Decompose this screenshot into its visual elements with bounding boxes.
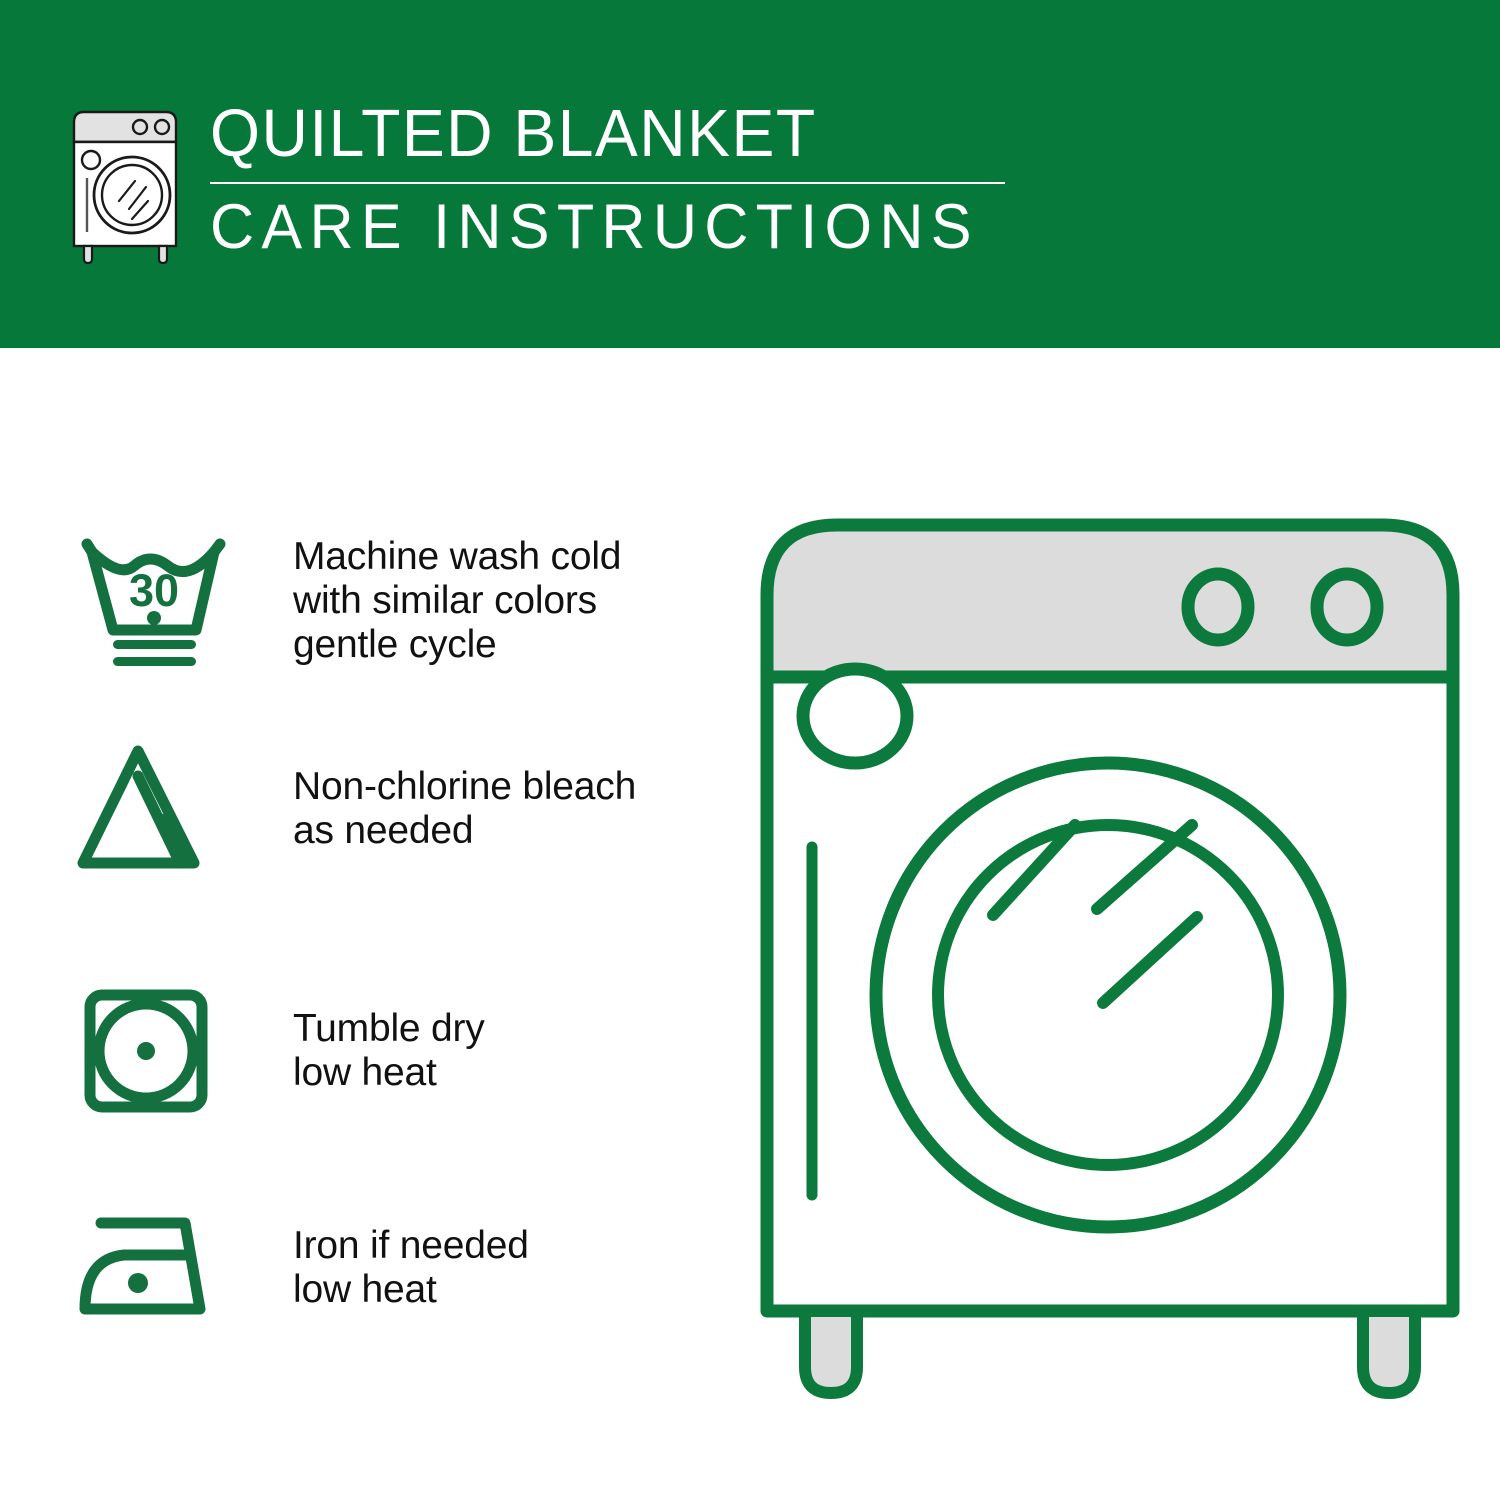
- header-title-group: QUILTED BLANKET CARE INSTRUCTIONS: [210, 98, 1005, 261]
- wash-tub-30-gentle-icon: 30: [72, 526, 237, 676]
- care-item-machine-wash: 30 Machine wash cold with similar colors…: [72, 526, 712, 676]
- care-item-iron: Iron if needed low heat: [72, 1193, 712, 1343]
- detergent-port: [803, 669, 907, 763]
- page-subtitle: CARE INSTRUCTIONS: [210, 193, 981, 261]
- knob-left: [1188, 574, 1248, 640]
- care-item-label: Iron if needed low heat: [293, 1224, 529, 1312]
- title-divider: [210, 182, 1005, 184]
- care-item-bleach: Non-chlorine bleach as needed: [72, 734, 712, 884]
- tumble-dry-low-heat-icon: [72, 976, 237, 1126]
- non-chlorine-bleach-triangle-icon: [72, 734, 237, 884]
- care-item-tumble-dry: Tumble dry low heat: [72, 976, 712, 1126]
- care-item-label: Non-chlorine bleach as needed: [293, 765, 636, 853]
- leg-left: [805, 1311, 857, 1393]
- knob-right: [1317, 574, 1377, 640]
- wash-temperature-label: 30: [129, 565, 179, 616]
- care-item-label: Machine wash cold with similar colors ge…: [293, 535, 621, 667]
- header-content: QUILTED BLANKET CARE INSTRUCTIONS: [62, 98, 1005, 271]
- care-item-label: Tumble dry low heat: [293, 1007, 485, 1095]
- washing-machine-icon: [62, 106, 192, 271]
- iron-low-heat-icon: [72, 1193, 237, 1343]
- care-instructions-list: 30 Machine wash cold with similar colors…: [0, 348, 740, 1500]
- page-title: QUILTED BLANKET: [210, 98, 973, 170]
- leg-right: [1363, 1311, 1415, 1393]
- front-load-washing-machine-illustration: [745, 495, 1475, 1420]
- header-banner: QUILTED BLANKET CARE INSTRUCTIONS: [0, 0, 1500, 348]
- washing-machine-graphic: [745, 495, 1475, 1420]
